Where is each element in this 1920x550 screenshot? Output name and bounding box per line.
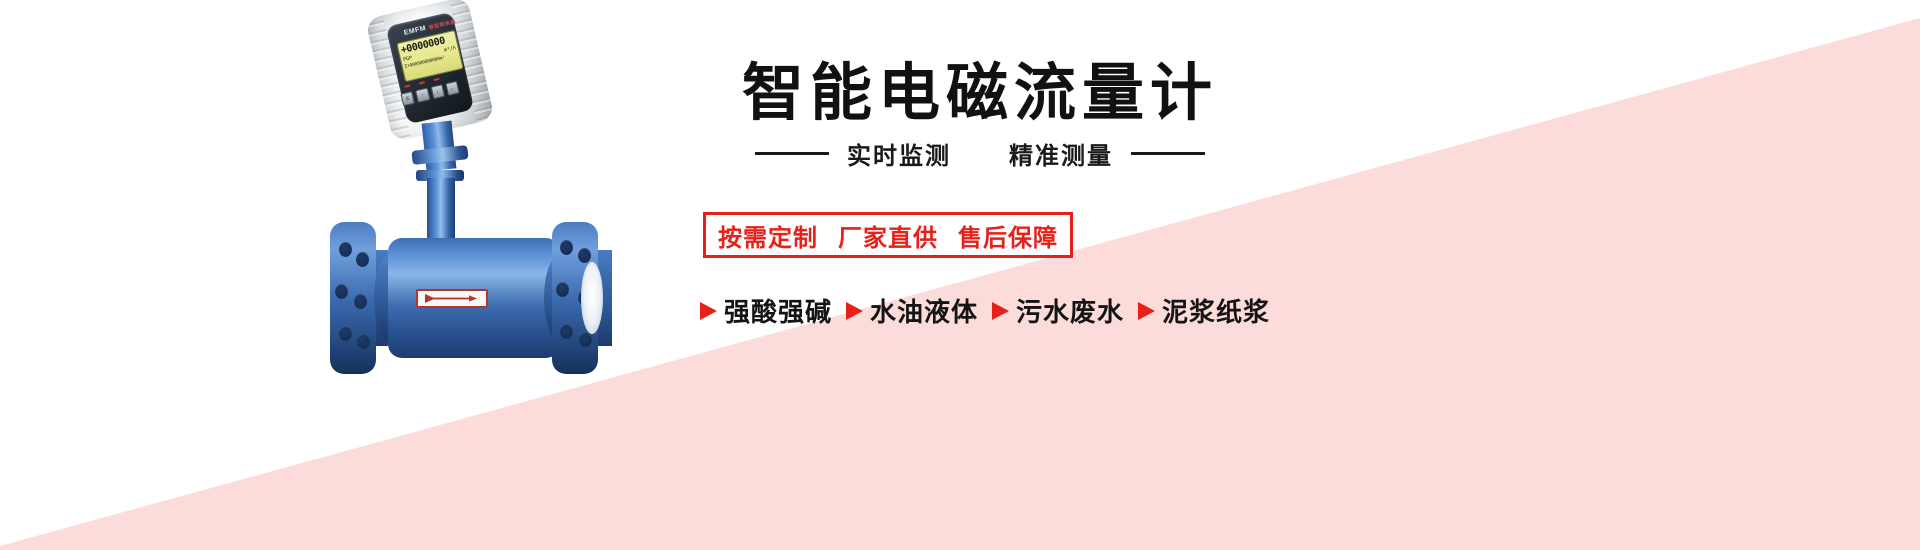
transmitter-brand-text: EMFM — [403, 25, 427, 37]
flange-bolt — [335, 284, 348, 299]
flange-bolt — [579, 332, 592, 347]
page-title: 智能电磁流量计 — [610, 42, 1350, 132]
keypad-key: ← — [445, 80, 460, 95]
riser-pipe — [427, 178, 455, 242]
triangle-right-icon — [992, 302, 1009, 320]
flange-bolt — [339, 242, 352, 257]
feature-item: 强酸强碱 — [700, 292, 832, 329]
neck-collar-upper — [411, 145, 468, 165]
status-led — [404, 85, 410, 88]
pipe-liner-bore — [581, 262, 603, 334]
feature-label: 污水废水 — [1016, 292, 1124, 329]
triangle-right-icon — [700, 302, 717, 320]
subtitle-left: 实时监测 — [847, 136, 951, 171]
flange-bolt — [356, 252, 369, 267]
flow-direction-arrow-icon — [423, 293, 481, 304]
flange-bolt — [560, 324, 573, 339]
flange-bolt — [339, 326, 352, 341]
feature-label: 泥浆纸浆 — [1162, 292, 1270, 329]
promo-badge: 按需定制 厂家直供 售后保障 — [703, 212, 1073, 258]
flange-bolt — [578, 248, 591, 263]
keypad-key: ↓ — [430, 84, 445, 99]
promo-item-3: 售后保障 — [958, 218, 1058, 253]
feature-item: 污水废水 — [992, 292, 1124, 329]
triangle-right-icon — [846, 302, 863, 320]
keypad-key: ↑ — [415, 87, 430, 102]
feature-item: 水油液体 — [846, 292, 978, 329]
status-led — [433, 78, 439, 81]
promo-item-2: 厂家直供 — [838, 218, 938, 253]
feature-label: 水油液体 — [870, 292, 978, 329]
promo-item-1: 按需定制 — [718, 218, 818, 253]
banner-copy-block: 智能电磁流量计 实时监测 精准测量 按需定制 厂家直供 售后保障 强酸强碱 水油… — [610, 0, 1350, 550]
triangle-right-icon — [1138, 302, 1155, 320]
rule-left-icon — [755, 152, 829, 155]
flange-bolt — [556, 282, 569, 297]
product-banner: EMFM智能转换器 +0000000 PGP m³/h Σ+0000000000… — [0, 0, 1920, 550]
flow-direction-label — [416, 289, 488, 308]
feature-list: 强酸强碱 水油液体 污水废水 泥浆纸浆 — [605, 292, 1365, 329]
status-led — [419, 81, 425, 84]
flange-bolt — [560, 240, 573, 255]
keypad-key: E — [400, 90, 415, 105]
flange-left — [330, 222, 376, 374]
feature-item: 泥浆纸浆 — [1138, 292, 1270, 329]
feature-label: 强酸强碱 — [724, 292, 832, 329]
subtitle-row: 实时监测 精准测量 — [610, 136, 1350, 171]
rule-right-icon — [1131, 152, 1205, 155]
flange-bolt — [354, 294, 367, 309]
flange-bolt — [357, 334, 370, 349]
subtitle-right: 精准测量 — [1009, 136, 1113, 171]
